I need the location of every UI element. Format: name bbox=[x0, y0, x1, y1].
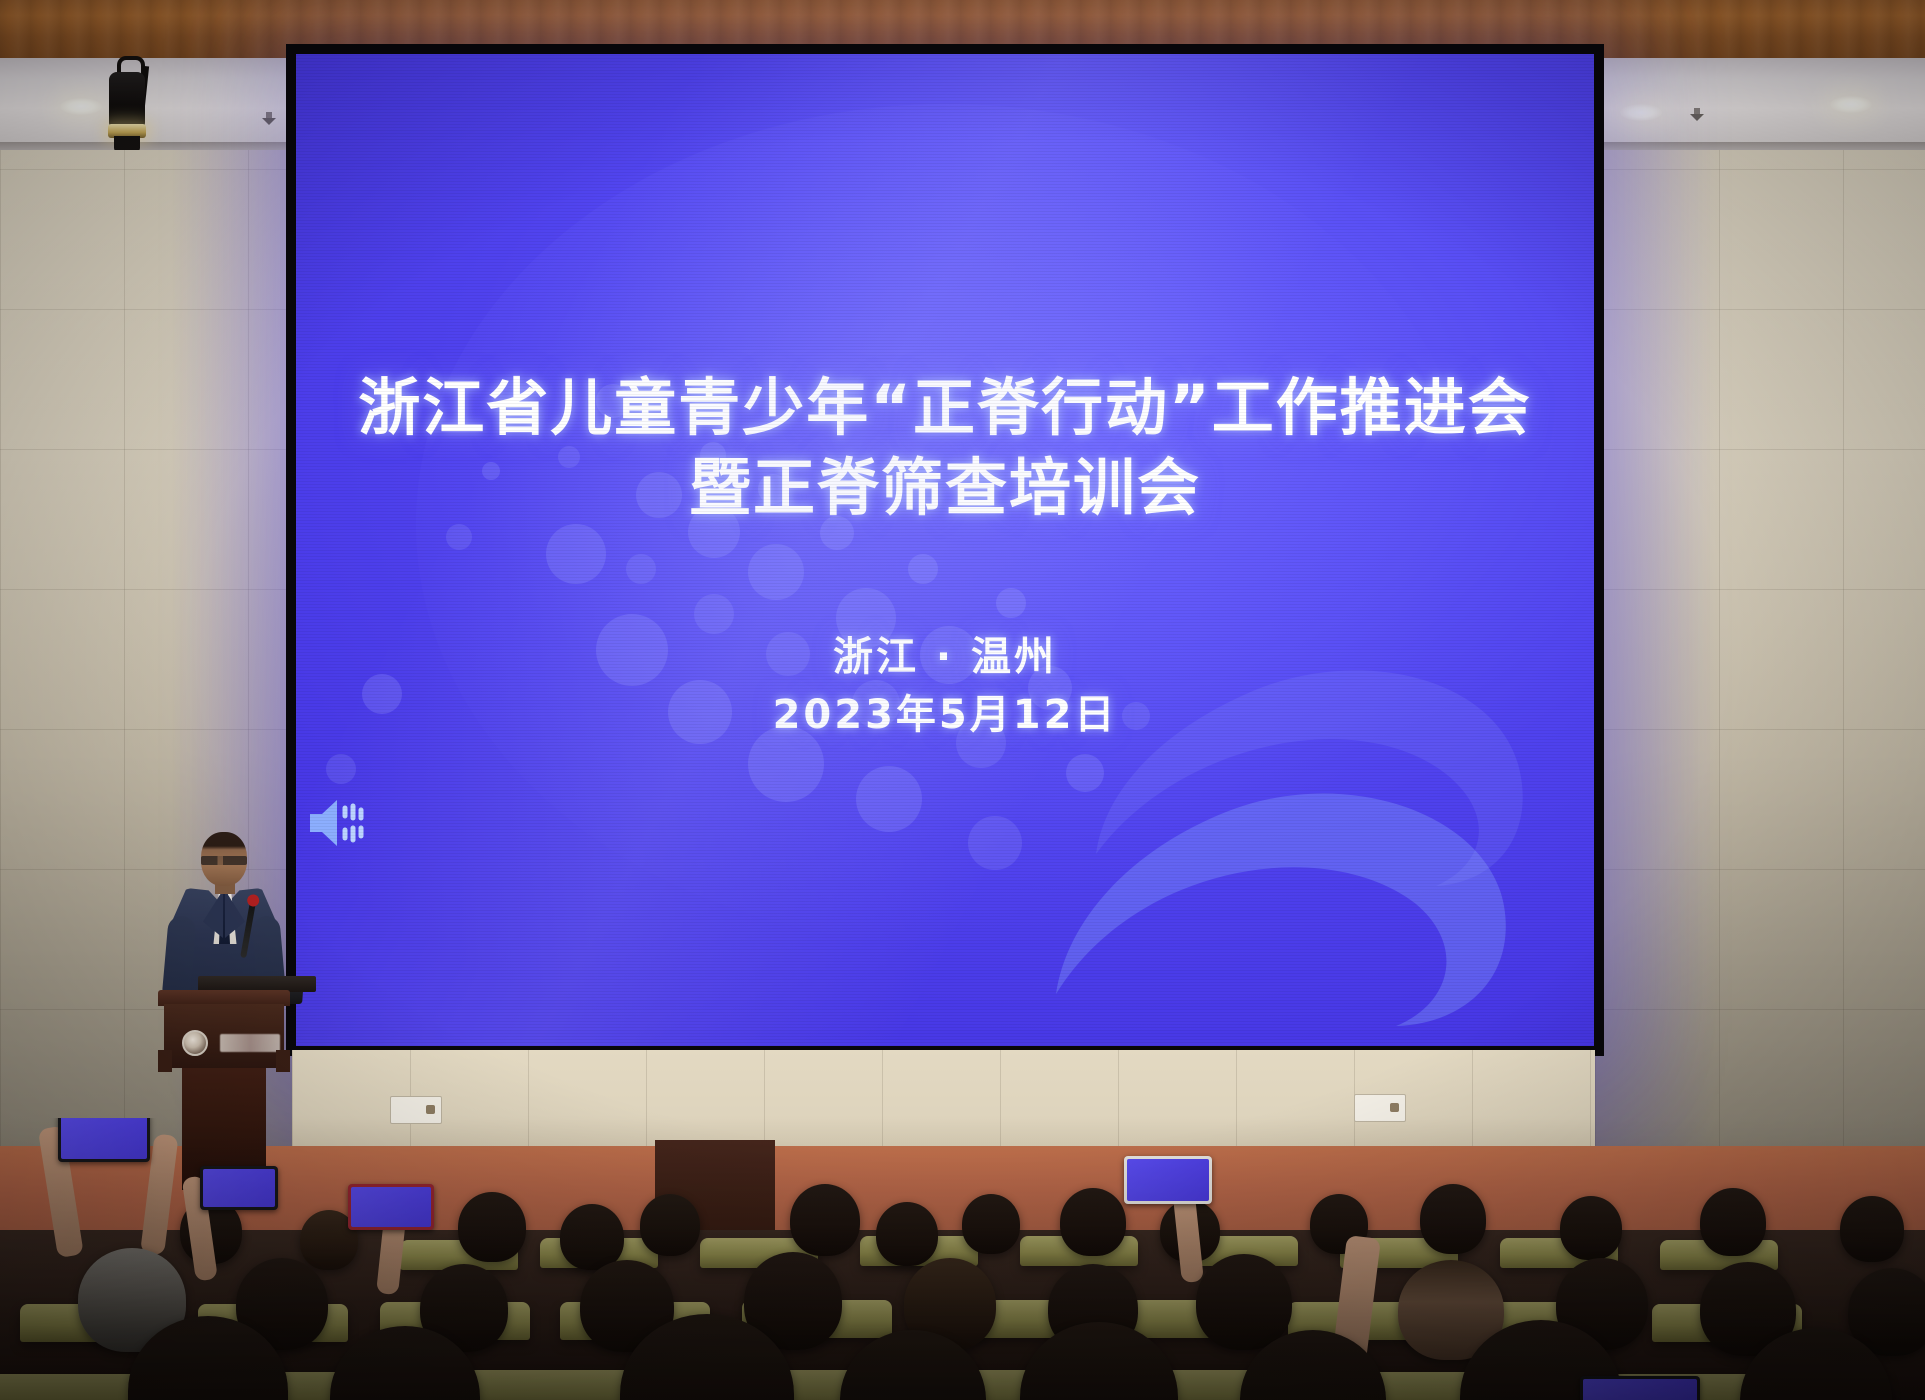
audience-phone[interactable] bbox=[1124, 1156, 1212, 1204]
slide-date-text: 2023年5月12日 bbox=[296, 682, 1594, 740]
decor-bubble bbox=[1066, 754, 1104, 792]
decor-bubble bbox=[446, 524, 472, 550]
audience-head bbox=[640, 1194, 700, 1256]
audience-head bbox=[876, 1202, 938, 1266]
audience-phone[interactable] bbox=[200, 1166, 278, 1210]
decor-bubble bbox=[968, 816, 1022, 870]
decor-bubble bbox=[326, 754, 356, 784]
ceiling-can-light bbox=[60, 98, 102, 115]
stage-spotlight bbox=[104, 56, 150, 152]
slide-title-line-2: 暨正脊筛查培训会 bbox=[296, 454, 1594, 522]
audience-seating bbox=[0, 1118, 1925, 1400]
auditorium-photo: 浙江省儿童青少年“正脊行动”工作推进会 暨正脊筛查培训会 浙江 · 温州 202… bbox=[0, 0, 1925, 1400]
decor-bubble bbox=[748, 544, 804, 600]
decor-bubble bbox=[546, 524, 606, 584]
audience-head bbox=[560, 1204, 624, 1270]
slide-title-line-1: 浙江省儿童青少年“正脊行动”工作推进会 bbox=[296, 374, 1594, 442]
audience-head bbox=[1196, 1254, 1292, 1350]
ceiling-can-light bbox=[1620, 104, 1662, 121]
ceiling-sprinkler bbox=[1690, 108, 1704, 122]
led-screen-frame: 浙江省儿童青少年“正脊行动”工作推进会 暨正脊筛查培训会 浙江 · 温州 202… bbox=[286, 44, 1604, 1056]
audience-head bbox=[458, 1192, 526, 1262]
slide-location-text: 浙江 · 温州 bbox=[296, 624, 1594, 682]
audience-phone[interactable] bbox=[348, 1184, 434, 1230]
audience-head bbox=[962, 1194, 1020, 1254]
eyeglasses bbox=[201, 856, 247, 865]
decor-bubble bbox=[856, 766, 922, 832]
audience-phone[interactable] bbox=[1580, 1376, 1700, 1400]
right-wall bbox=[1595, 150, 1925, 1150]
audience-head bbox=[1420, 1184, 1486, 1254]
audience-head bbox=[790, 1184, 860, 1256]
presentation-slide: 浙江省儿童青少年“正脊行动”工作推进会 暨正脊筛查培训会 浙江 · 温州 202… bbox=[296, 54, 1594, 1046]
ceiling-sprinkler bbox=[262, 112, 276, 126]
decor-bubble bbox=[996, 588, 1026, 618]
decor-swoosh-shape bbox=[996, 694, 1594, 1046]
ceiling-can-light bbox=[1830, 96, 1872, 113]
audience-phone[interactable] bbox=[58, 1118, 150, 1162]
decor-bubble bbox=[626, 554, 656, 584]
audience-head bbox=[1060, 1188, 1126, 1256]
volume-speaker-icon[interactable] bbox=[306, 792, 370, 854]
podium-nameplate bbox=[220, 1034, 280, 1052]
audience-head bbox=[1560, 1196, 1622, 1260]
decor-bubble bbox=[908, 554, 938, 584]
audience-head bbox=[1840, 1196, 1904, 1262]
audience-head bbox=[1700, 1188, 1766, 1256]
institution-crest-emblem bbox=[182, 1030, 208, 1056]
